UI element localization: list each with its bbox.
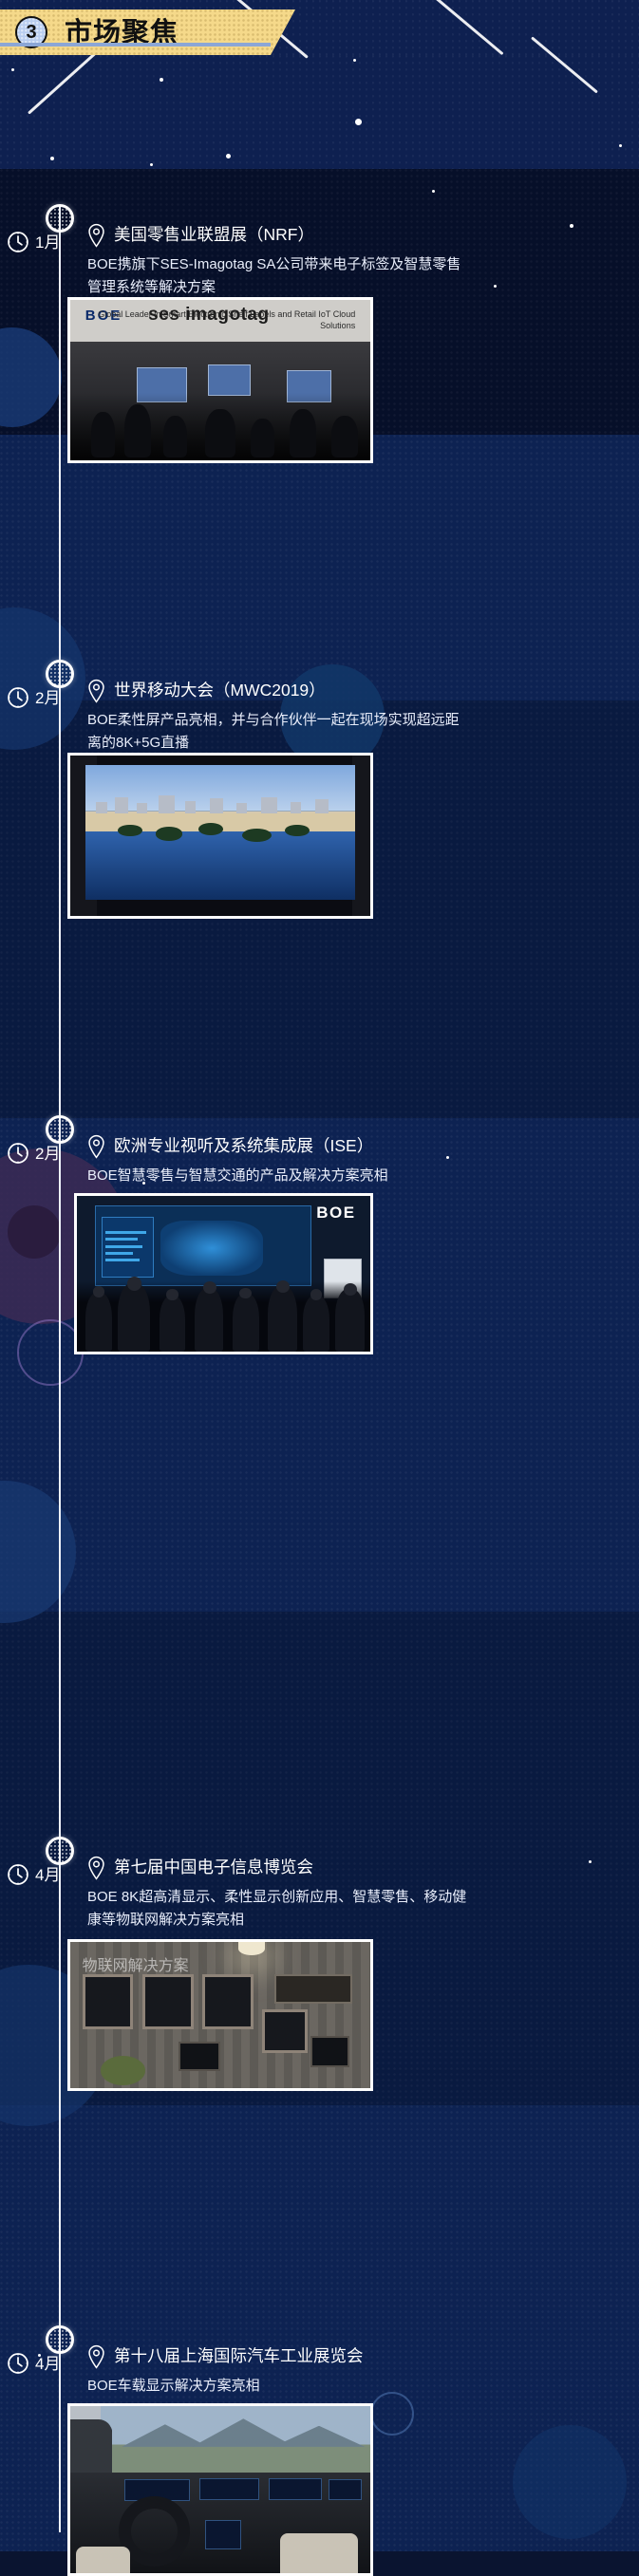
photo-lamp: [238, 1942, 265, 1955]
photo-sea: [85, 831, 355, 900]
photo-person: [118, 1283, 150, 1352]
photo-content: 物联网解决方案: [70, 1942, 370, 2088]
entry-description: BOE 8K超高清显示、柔性显示创新应用、智慧零售、移动健康等物联网解决方案亮相: [87, 1886, 472, 1932]
photo-mountain: [122, 2424, 208, 2447]
photo-mountain: [273, 2426, 366, 2447]
timeline-node: [46, 1837, 74, 1865]
photo-seat: [76, 2547, 130, 2573]
photo-poster-frame: [202, 1974, 254, 2030]
entry-description: BOE智慧零售与智慧交通的产品及解决方案亮相: [87, 1165, 472, 1187]
entry-description: BOE柔性屏产品亮相，并与合作伙伴一起在现场实现超远距离的8K+5G直播: [87, 709, 472, 756]
entry-title: 欧洲专业视听及系统集成展（ISE）: [114, 1136, 373, 1157]
clock-icon: [6, 230, 30, 254]
photo-person: [331, 416, 358, 457]
entry-month-label: 4月: [35, 2356, 60, 2372]
photo-console-display: [205, 2520, 241, 2550]
entry-title: 世界移动大会（MWC2019）: [114, 681, 326, 701]
photo-building: [261, 797, 277, 813]
photo-watermark: 物联网解决方案: [83, 1952, 189, 1975]
photo-video-wall: [85, 765, 355, 900]
photo-person: [303, 1296, 329, 1352]
photo-person: [268, 1286, 297, 1352]
section-number-badge: 3: [15, 16, 47, 48]
location-pin-icon: [87, 1134, 105, 1159]
photo-building: [159, 795, 175, 813]
decor-blob-6: [513, 2425, 627, 2539]
entry-month-group: 4月: [6, 1862, 60, 1887]
photo-person: [163, 416, 187, 457]
photo-person: [160, 1296, 186, 1352]
photo-person-head: [203, 1281, 216, 1294]
star: [355, 119, 362, 125]
photo-mountain: [192, 2418, 294, 2447]
entry-month-group: 2月: [6, 1141, 60, 1166]
photo-palm: [118, 825, 142, 837]
photo-building: [315, 799, 329, 813]
photo-person: [335, 1289, 365, 1352]
photo-person: [290, 409, 316, 457]
entry-description: BOE车载显示解决方案亮相: [87, 2375, 472, 2398]
photo-person: [91, 412, 115, 457]
entry-title: 第十八届上海国际汽车工业展览会: [114, 2346, 364, 2367]
decor-blob-purple-inner: [8, 1205, 61, 1259]
photo-person-head: [166, 1289, 178, 1299]
timeline-node: [46, 1115, 74, 1144]
photo-person: [251, 419, 274, 457]
clock-icon: [6, 685, 30, 710]
entry-title-row: 世界移动大会（MWC2019）: [87, 681, 619, 703]
background-band-stars: [0, 55, 639, 169]
photo-corner-display: [329, 2479, 362, 2499]
photo-person-head: [93, 1286, 104, 1297]
photo-person-head: [239, 1288, 251, 1298]
star: [226, 154, 231, 159]
entry-title-row: 欧洲专业视听及系统集成展（ISE）: [87, 1136, 619, 1159]
star: [160, 78, 163, 82]
photo-building: [137, 803, 147, 813]
entry-month-group: 4月: [6, 2351, 60, 2376]
star: [50, 157, 54, 160]
timeline-node: [46, 660, 74, 688]
photo-person-head: [276, 1280, 290, 1293]
photo-person: [124, 404, 151, 457]
photo-china-map: [160, 1221, 264, 1276]
entry-month-group: 2月: [6, 685, 60, 710]
photo-person: [195, 1288, 224, 1352]
photo-plant: [101, 2056, 145, 2085]
entry-month-group: 1月: [6, 230, 60, 254]
entry-description: BOE携旗下SES-Imagotag SA公司带来电子标签及智慧零售管理系统等解…: [87, 253, 472, 300]
mwc-video-wall-photo[interactable]: [67, 753, 373, 919]
photo-person: [233, 1294, 259, 1352]
photo-palm: [156, 827, 182, 840]
photo-person-head: [310, 1289, 322, 1299]
photo-windshield: [101, 2406, 370, 2476]
photo-poster-frame: [142, 1974, 194, 2030]
entry-body: 美国零售业联盟展（NRF） BOE携旗下SES-Imagotag SA公司带来电…: [87, 225, 619, 300]
location-pin-icon: [87, 679, 105, 703]
photo-seat: [280, 2533, 358, 2573]
entry-body: 第七届中国电子信息博览会 BOE 8K超高清显示、柔性显示创新应用、智慧零售、移…: [87, 1857, 619, 1932]
photo-palm: [242, 829, 272, 842]
entry-month-label: 1月: [35, 234, 60, 251]
photo-building: [236, 803, 247, 814]
location-pin-icon: [87, 1856, 105, 1880]
auto-show-cockpit-photo[interactable]: [67, 2403, 373, 2576]
photo-building: [96, 802, 106, 813]
entry-title: 第七届中国电子信息博览会: [114, 1857, 313, 1878]
clock-icon: [6, 2351, 30, 2376]
entry-month-label: 2月: [35, 1146, 60, 1162]
photo-building: [185, 801, 196, 813]
photo-data-bar: [105, 1252, 133, 1255]
entry-title-row: 第七届中国电子信息博览会: [87, 1857, 619, 1880]
section-header: 3 市场聚焦: [0, 9, 271, 55]
photo-person: [205, 409, 235, 457]
entry-title-row: 美国零售业联盟展（NRF）: [87, 225, 619, 248]
entry-body: 世界移动大会（MWC2019） BOE柔性屏产品亮相，并与合作伙伴一起在现场实现…: [87, 681, 619, 756]
timeline-node: [46, 204, 74, 233]
photo-content: BOE ses imagotag Global Leader in Smart …: [70, 300, 370, 460]
photo-screen-2: [208, 364, 250, 397]
entry-body: 第十八届上海国际汽车工业展览会 BOE车载显示解决方案亮相: [87, 2346, 619, 2398]
entry-title-row: 第十八届上海国际汽车工业展览会: [87, 2346, 619, 2369]
photo-building: [291, 802, 301, 813]
entry-month-label: 2月: [35, 690, 60, 706]
photo-palm: [198, 823, 223, 835]
photo-tagline: Global Leader in Smart Electronic Shelf …: [70, 309, 355, 331]
clock-icon: [6, 1862, 30, 1887]
page-title: 市场聚焦: [65, 19, 179, 47]
photo-building: [115, 797, 128, 813]
star: [150, 163, 153, 166]
location-pin-icon: [87, 223, 105, 248]
photo-person-head: [344, 1283, 357, 1296]
photo-data-bar: [105, 1259, 140, 1261]
timeline-node: [46, 2325, 74, 2354]
photo-poster-frame: [262, 2009, 307, 2053]
photo-palm: [285, 825, 310, 837]
photo-content: [70, 756, 370, 916]
photo-brand-boe: BOE: [316, 1204, 355, 1223]
entry-body: 欧洲专业视听及系统集成展（ISE） BOE智慧零售与智慧交通的产品及解决方案亮相: [87, 1136, 619, 1187]
ise-booth-photo[interactable]: BOE: [74, 1193, 373, 1354]
photo-building: [210, 798, 223, 813]
photo-data-bar: [105, 1231, 146, 1234]
decor-ring-3: [370, 2392, 414, 2436]
photo-device: [310, 2036, 349, 2068]
photo-data-bar: [105, 1245, 142, 1248]
location-pin-icon: [87, 2344, 105, 2369]
photo-passenger-display: [269, 2478, 323, 2500]
cite-iot-wall-photo[interactable]: 物联网解决方案: [67, 1939, 373, 2091]
photo-center-display: [199, 2478, 259, 2500]
background-band-mid-1: [0, 435, 639, 700]
nrf-booth-photo[interactable]: BOE ses imagotag Global Leader in Smart …: [67, 297, 373, 463]
star: [353, 59, 356, 62]
photo-video-wall: [95, 1205, 312, 1286]
clock-icon: [6, 1141, 30, 1166]
photo-poster-frame: [83, 1974, 134, 2030]
star: [619, 144, 622, 147]
star: [11, 68, 14, 71]
photo-content: BOE: [77, 1196, 370, 1352]
entry-title: 美国零售业联盟展（NRF）: [114, 225, 314, 246]
timeline-spine: [59, 207, 61, 2532]
photo-tablet: [179, 2042, 220, 2071]
entry-month-label: 4月: [35, 1867, 60, 1883]
photo-person: [85, 1293, 112, 1352]
photo-skyline: [85, 794, 355, 813]
photo-person-head: [127, 1277, 141, 1291]
photo-shelf: [274, 1974, 352, 2004]
photo-data-bar: [105, 1238, 138, 1241]
star: [432, 190, 435, 193]
photo-data-panel: [102, 1217, 153, 1277]
photo-content: [70, 2406, 370, 2573]
